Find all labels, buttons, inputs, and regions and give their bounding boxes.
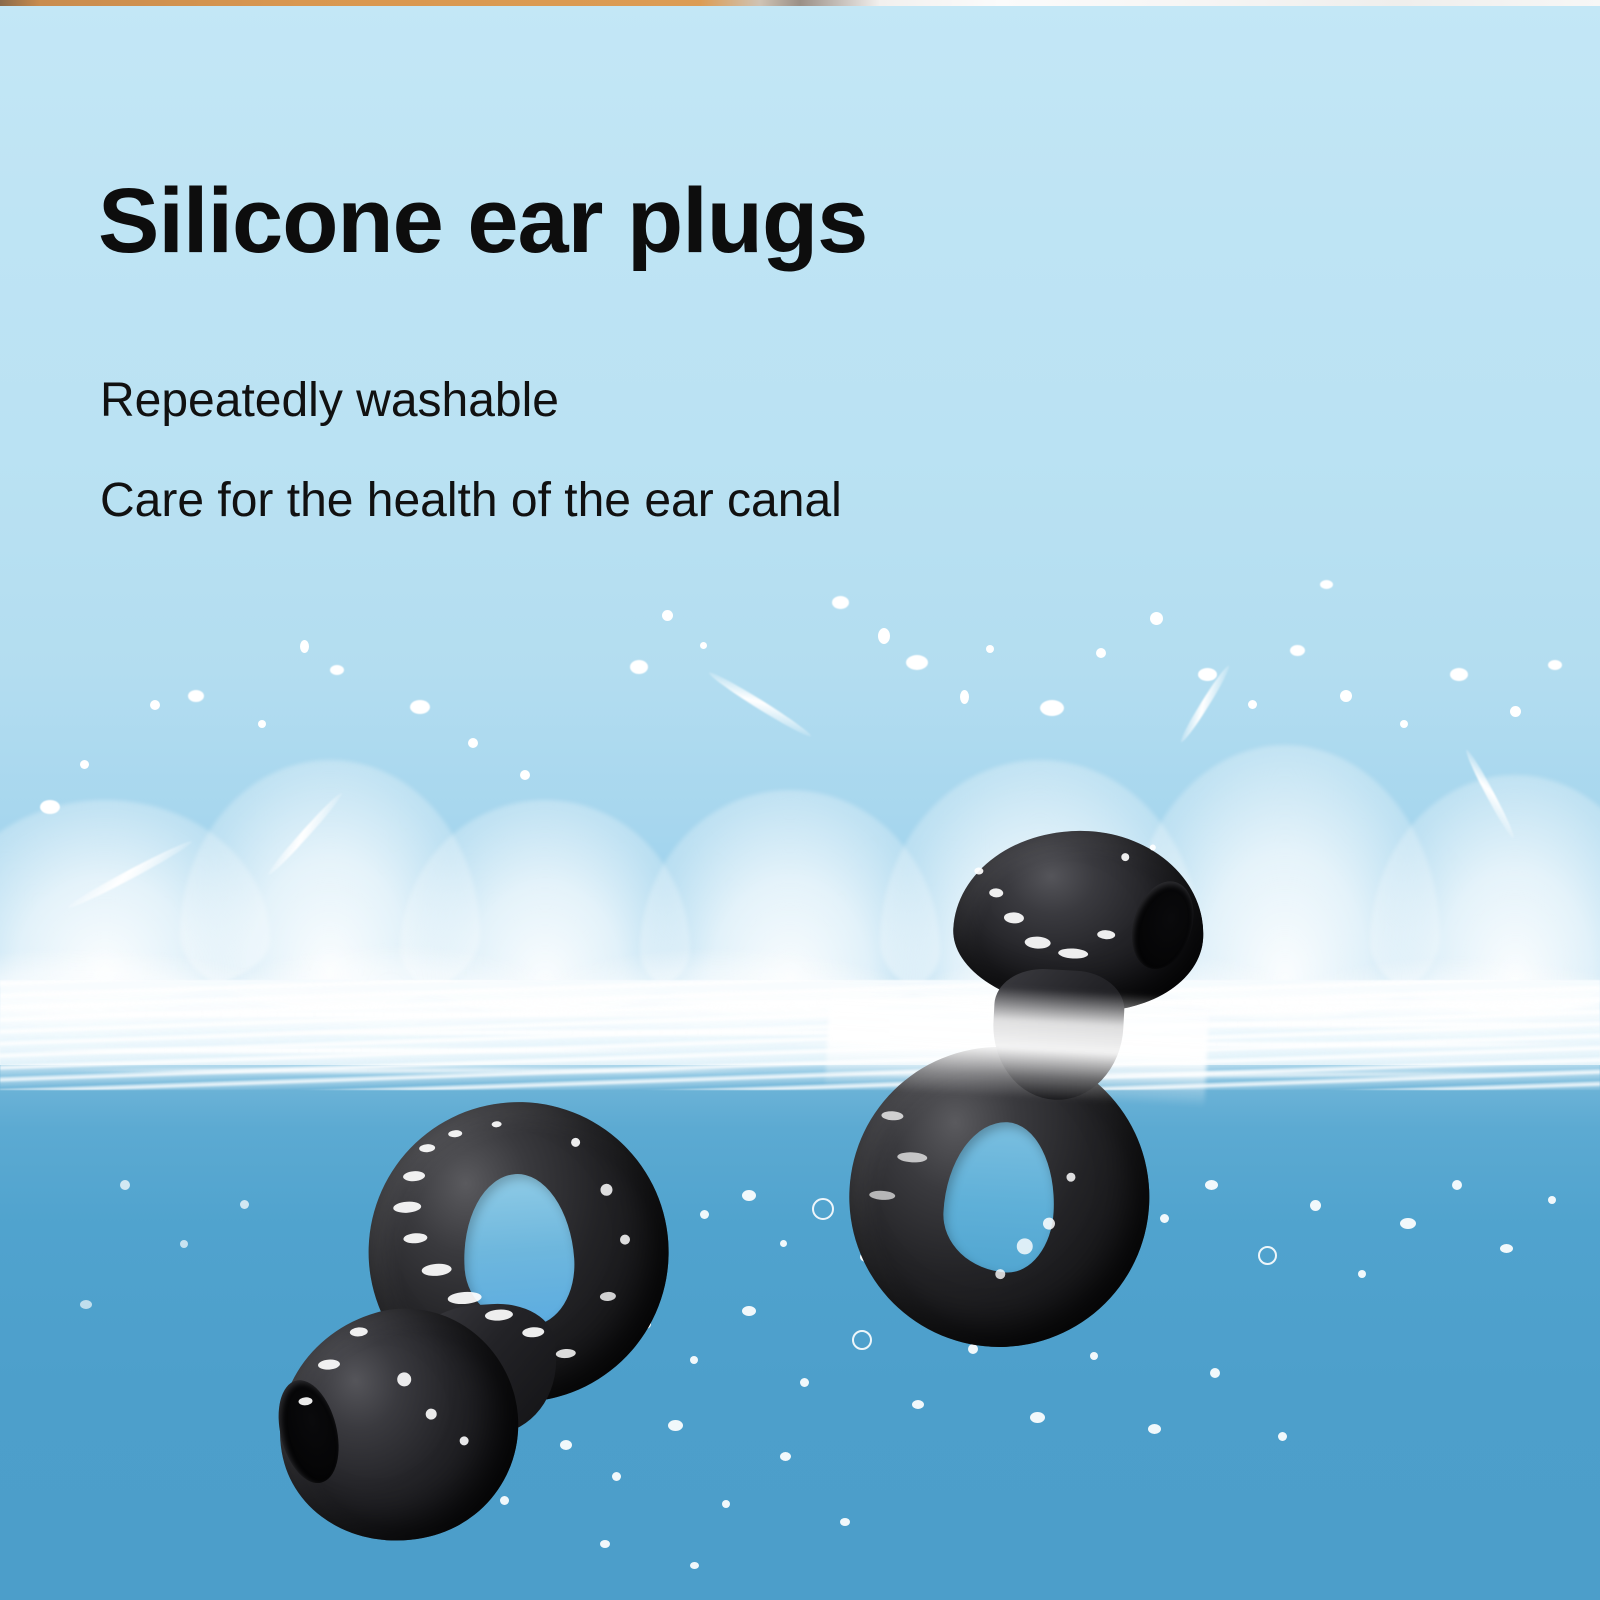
- air-bubble: [1358, 1270, 1366, 1278]
- air-bubble: [1548, 1196, 1556, 1204]
- water-droplet: [832, 596, 849, 609]
- air-bubble: [742, 1190, 756, 1201]
- air-bubble: [120, 1180, 130, 1190]
- water-droplet: [1548, 660, 1562, 670]
- water-droplet: [1400, 720, 1408, 728]
- air-bubble: [1278, 1432, 1287, 1441]
- air-bubble: [700, 1210, 709, 1219]
- air-bubble: [742, 1306, 756, 1316]
- text-block: Silicone ear plugs Repeatedly washable C…: [98, 175, 867, 267]
- air-bubble: [1452, 1180, 1462, 1190]
- water-droplet: [662, 610, 673, 621]
- surface-streak: [0, 1012, 740, 1017]
- air-bubble: [812, 1198, 834, 1220]
- water-droplet: [468, 738, 478, 748]
- water-droplet: [1450, 668, 1468, 681]
- water-droplet: [630, 660, 648, 674]
- air-bubble: [180, 1240, 188, 1248]
- water-droplet: [258, 720, 266, 728]
- subtitle-line-2: Care for the health of the ear canal: [100, 473, 842, 528]
- water-droplet: [1040, 700, 1064, 716]
- water-droplet: [40, 800, 60, 814]
- earplug-left: [239, 1090, 721, 1600]
- water-droplet: [188, 690, 204, 702]
- air-bubble: [1310, 1200, 1321, 1211]
- water-droplet: [1340, 690, 1352, 702]
- surface-streak: [60, 1068, 760, 1073]
- water-droplet: [1248, 700, 1257, 709]
- air-bubble: [1500, 1244, 1513, 1253]
- air-bubble: [840, 1518, 850, 1526]
- water-droplet: [986, 645, 994, 653]
- water-droplet: [700, 642, 707, 649]
- air-bubble: [800, 1378, 809, 1387]
- water-droplet: [1320, 580, 1333, 589]
- water-droplet: [1150, 612, 1163, 625]
- air-bubble: [1210, 1368, 1220, 1378]
- water-droplet: [1510, 706, 1521, 717]
- top-edge-artifact: [0, 0, 1600, 6]
- air-bubble: [80, 1300, 92, 1309]
- water-droplet: [906, 655, 928, 670]
- water-droplet: [1198, 668, 1217, 681]
- earplug-right: [831, 809, 1289, 1371]
- page-title: Silicone ear plugs: [98, 175, 867, 267]
- product-poster: Silicone ear plugs Repeatedly washable C…: [0, 0, 1600, 1600]
- water-droplet: [80, 760, 89, 769]
- water-speckle: [1150, 844, 1156, 850]
- air-bubble: [912, 1400, 924, 1409]
- water-droplet: [300, 640, 309, 653]
- surface-streak: [0, 1048, 680, 1053]
- water-droplet: [1096, 648, 1106, 658]
- water-droplet: [150, 700, 160, 710]
- water-droplet: [410, 700, 430, 714]
- air-bubble: [1148, 1424, 1161, 1434]
- water-droplet: [330, 665, 344, 675]
- water-droplet: [520, 770, 530, 780]
- subtitle-line-1: Repeatedly washable: [100, 373, 559, 428]
- air-bubble: [722, 1500, 730, 1508]
- air-bubble: [1030, 1412, 1045, 1423]
- water-droplet: [1290, 645, 1305, 656]
- water-droplet: [960, 690, 969, 704]
- water-droplet: [878, 628, 890, 644]
- air-bubble: [780, 1240, 787, 1247]
- air-bubble: [1400, 1218, 1416, 1229]
- air-bubble: [780, 1452, 791, 1461]
